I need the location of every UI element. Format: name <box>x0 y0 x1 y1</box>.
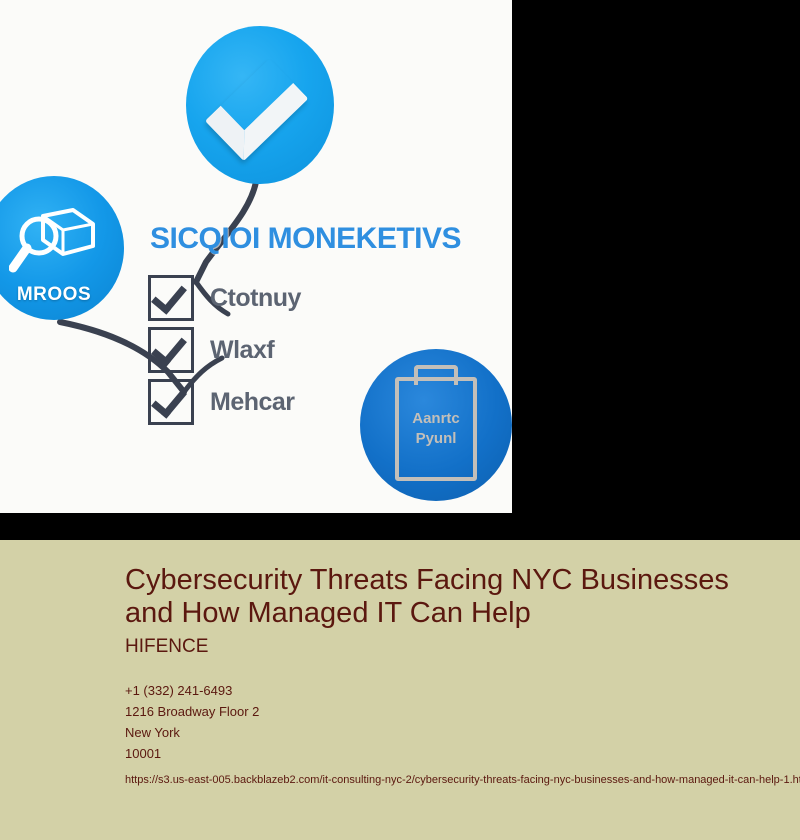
contact-zip: 10001 <box>125 743 772 764</box>
checkbox-checked-icon <box>148 275 194 321</box>
media-letterbox-band: MROOS Aanrtc Pyunl SICQIOI MONEKETIVS Ct… <box>0 0 800 540</box>
checklist-item-label: Ctotnuy <box>210 284 301 313</box>
checklist-item: Mehcar <box>148 376 301 428</box>
source-url-link[interactable]: https://s3.us-east-005.backblazeb2.com/i… <box>125 770 800 791</box>
checklist-item: Wlaxf <box>148 324 301 376</box>
page-title: Cybersecurity Threats Facing NYC Busines… <box>125 564 772 630</box>
checklist-item: Ctotnuy <box>148 272 301 324</box>
clipboard-icon: Aanrtc Pyunl <box>395 377 477 481</box>
illustration-checklist: Ctotnuy Wlaxf Mehcar <box>148 272 301 428</box>
checkbox-checked-icon <box>148 327 194 373</box>
report-line-1: Aanrtc <box>412 409 460 429</box>
brand-name: HIFENCE <box>125 636 772 658</box>
hero-illustration: MROOS Aanrtc Pyunl SICQIOI MONEKETIVS Ct… <box>0 0 512 513</box>
checklist-item-label: Wlaxf <box>210 336 274 365</box>
scan-badge-caption: MROOS <box>0 284 124 306</box>
check-badge <box>186 26 334 184</box>
checklist-item-label: Mehcar <box>210 388 295 417</box>
report-badge: Aanrtc Pyunl <box>360 349 512 501</box>
magnifier-icon <box>9 206 99 280</box>
contact-street: 1216 Broadway Floor 2 <box>125 701 772 722</box>
checkmark-icon <box>220 57 300 154</box>
article-info-panel: Cybersecurity Threats Facing NYC Busines… <box>0 540 800 840</box>
contact-phone: +1 (332) 241-6493 <box>125 680 772 701</box>
contact-city: New York <box>125 722 772 743</box>
report-line-2: Pyunl <box>416 429 457 449</box>
illustration-heading: SICQIOI MONEKETIVS <box>150 222 461 256</box>
contact-block: +1 (332) 241-6493 1216 Broadway Floor 2 … <box>125 680 772 764</box>
checkbox-checked-icon <box>148 379 194 425</box>
